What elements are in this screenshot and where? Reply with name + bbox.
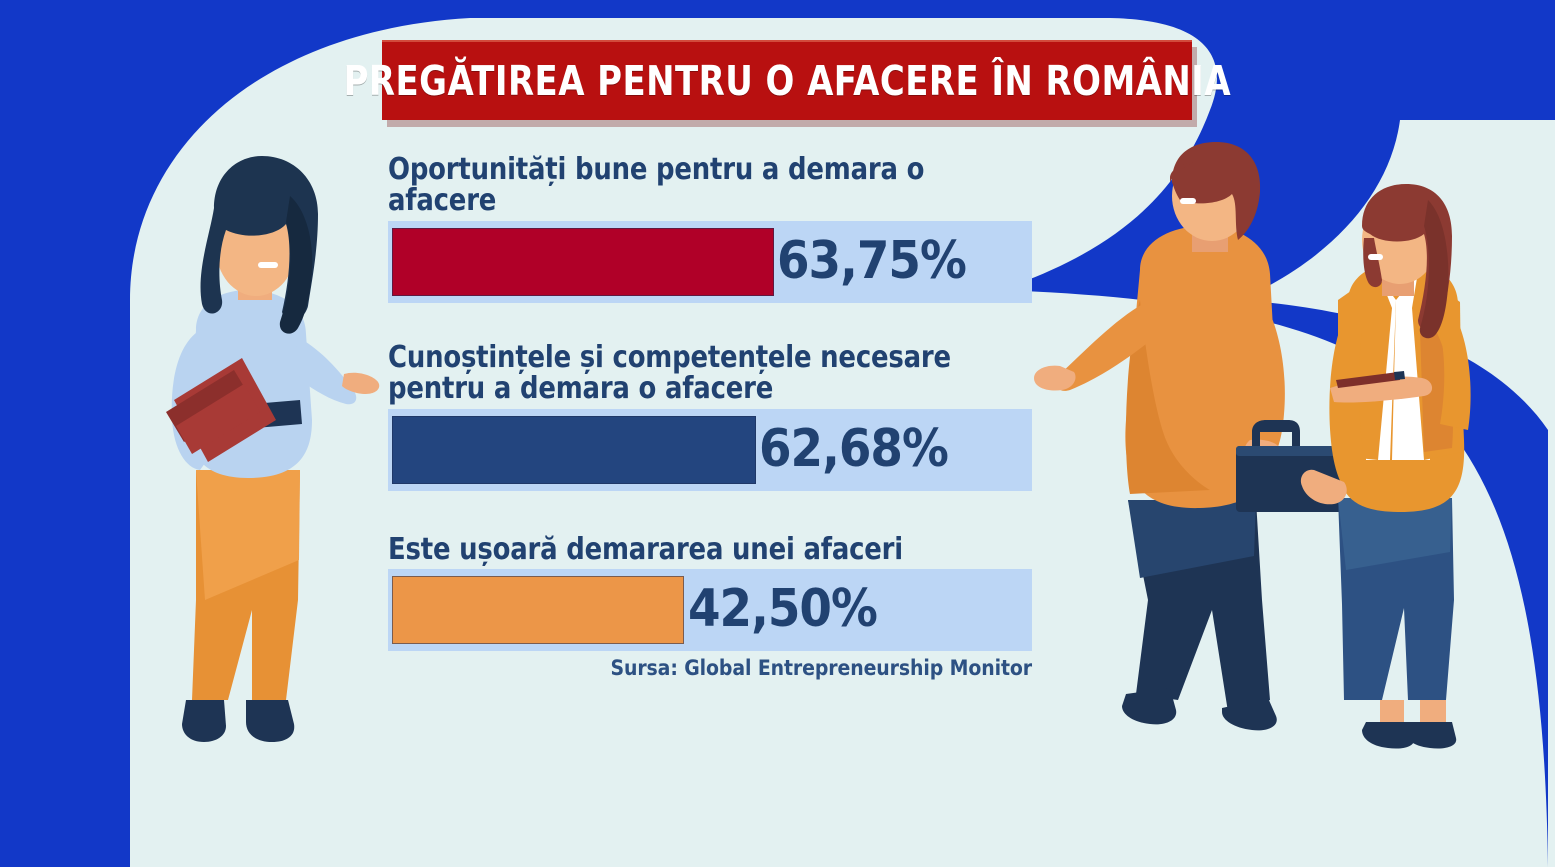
spacer (388, 303, 1034, 343)
bar-track-3: 42,50% (388, 569, 1032, 651)
infographic-stage: PREGĂTIREA PENTRU O AFACERE ÎN ROMÂNIA O… (0, 0, 1555, 867)
bar-value-1: 63,75% (777, 231, 966, 291)
bar-fill-3 (392, 576, 684, 644)
source-note: Sursa: Global Entrepreneurship Monitor (388, 656, 1032, 680)
bar-fill-1 (392, 228, 774, 296)
spacer (388, 491, 1034, 535)
bar-label-3: Este ușoară demararea unei afaceri (388, 535, 1008, 566)
bar-label-2: Cunoștințele și competențele necesare pe… (388, 343, 1008, 405)
bar-value-3: 42,50% (688, 579, 877, 639)
bar-fill-2 (392, 416, 756, 484)
bar-chart: Oportunități bune pentru a demara o afac… (388, 155, 1034, 680)
bar-row-2: Cunoștințele și competențele necesare pe… (388, 343, 1034, 491)
page-title: PREGĂTIREA PENTRU O AFACERE ÎN ROMÂNIA (343, 57, 1230, 105)
bar-track-1: 63,75% (388, 221, 1032, 303)
title-banner: PREGĂTIREA PENTRU O AFACERE ÎN ROMÂNIA (382, 40, 1192, 120)
bar-row-3: Este ușoară demararea unei afaceri 42,50… (388, 535, 1034, 652)
bar-track-2: 62,68% (388, 409, 1032, 491)
bar-row-1: Oportunități bune pentru a demara o afac… (388, 155, 1034, 303)
bar-value-2: 62,68% (759, 418, 948, 478)
bar-label-1: Oportunități bune pentru a demara o afac… (388, 155, 1008, 217)
